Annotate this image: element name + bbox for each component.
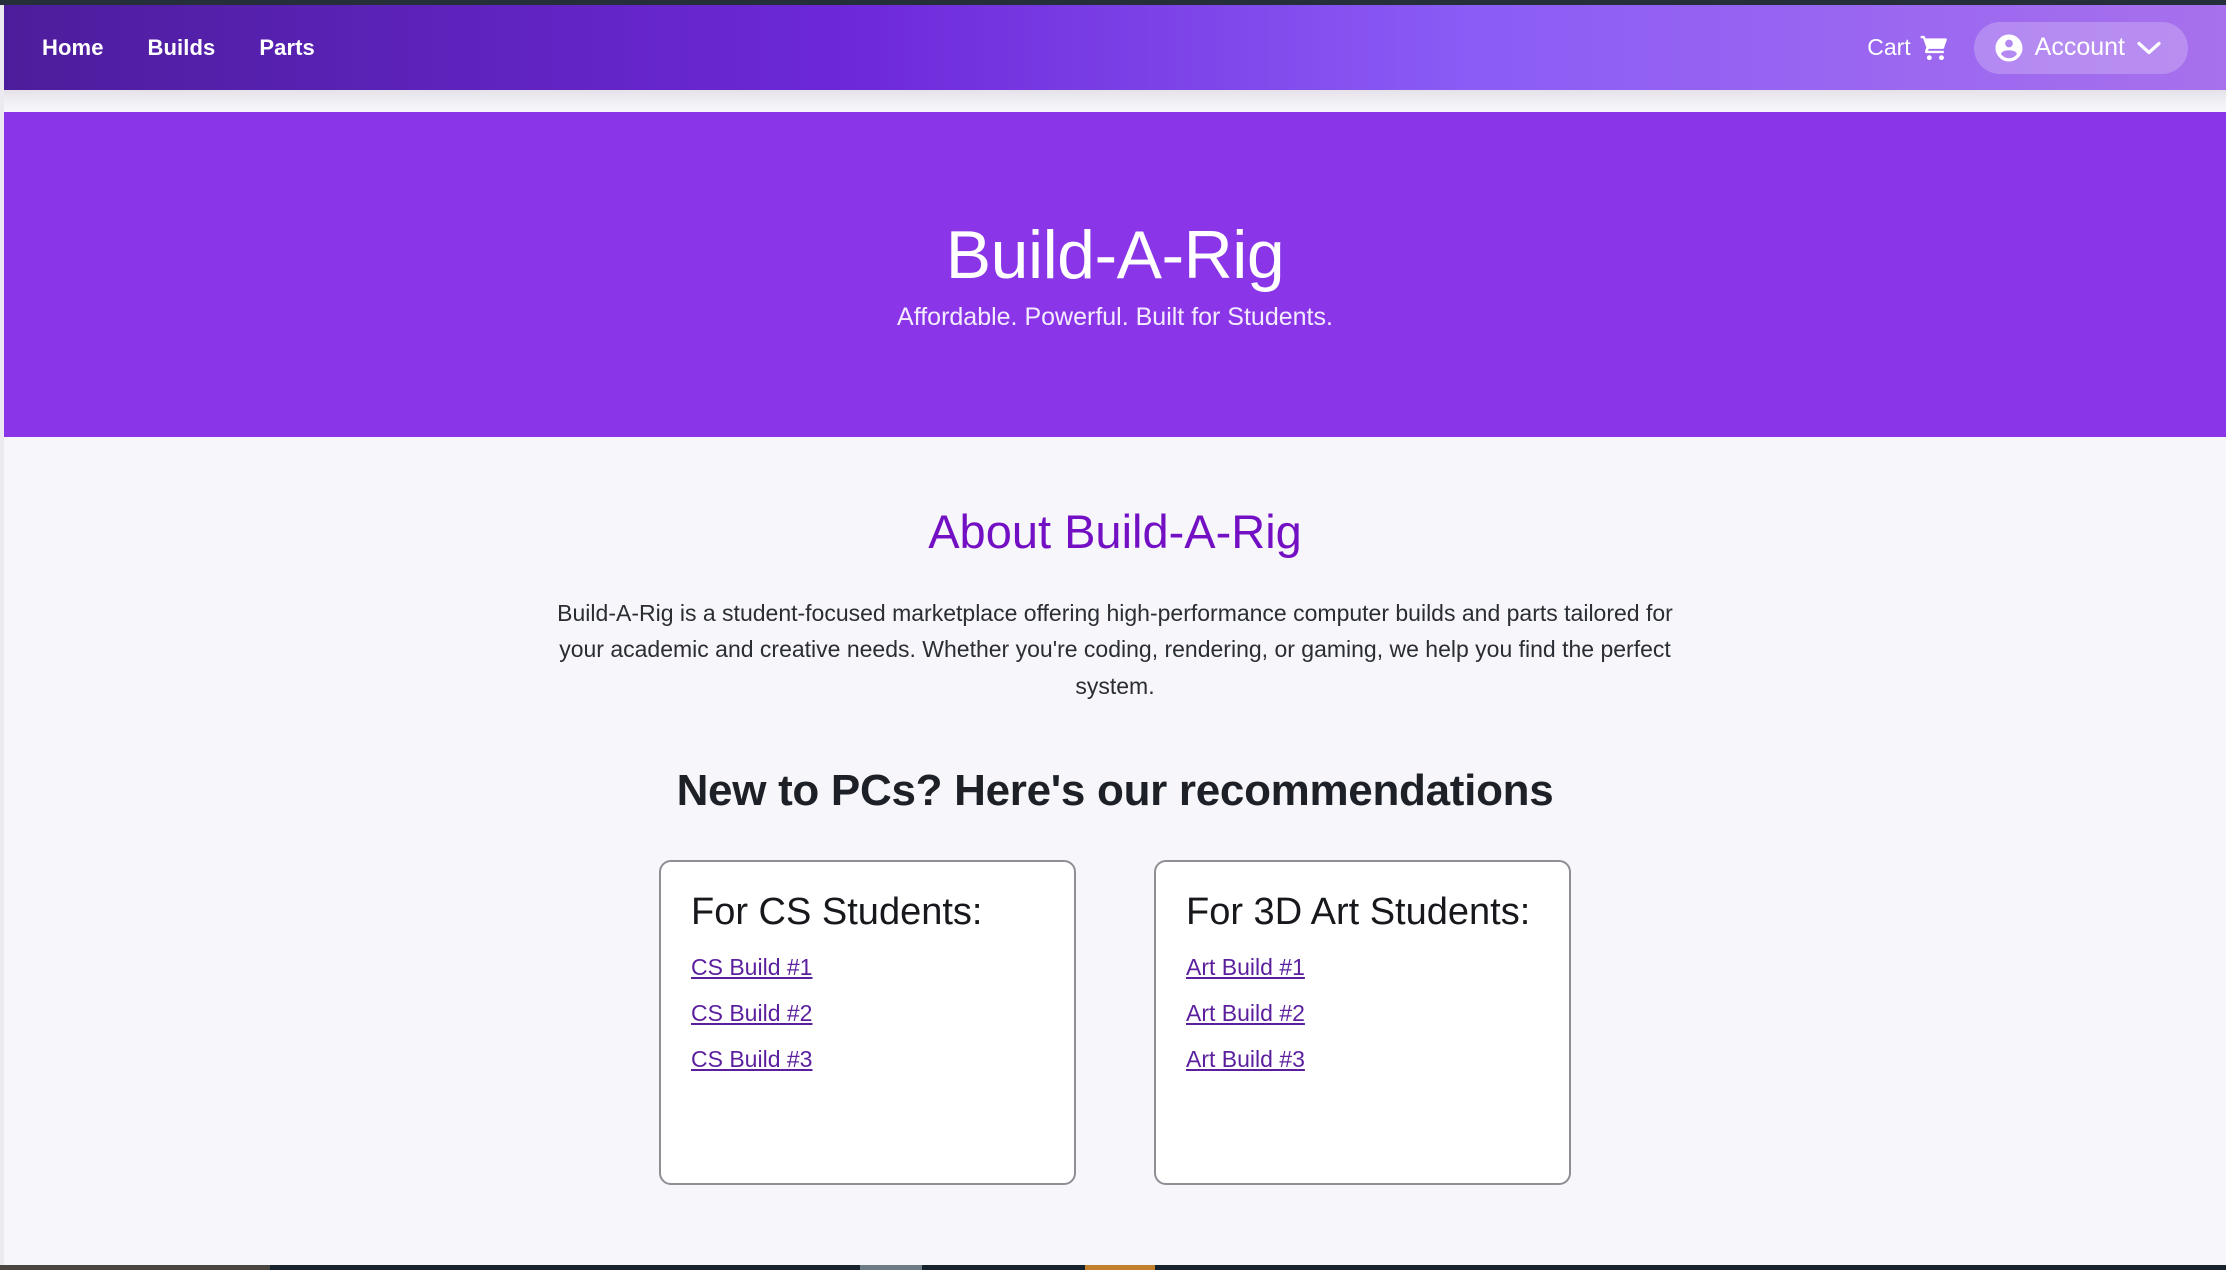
nav-link-parts[interactable]: Parts [259,35,315,61]
about-section-heading: About Build-A-Rig [4,504,2226,559]
account-label: Account [2035,33,2125,62]
build-link-cs-1[interactable]: CS Build #1 [691,954,812,981]
recommendations-heading: New to PCs? Here's our recommendations [4,766,2226,816]
cart-label: Cart [1867,34,1910,61]
navbar-shadow-strip [4,90,2226,112]
viewport-left-gutter [0,5,4,1265]
recommendation-card-title: For CS Students: [691,890,1044,935]
recommendation-cards-row: For CS Students: CS Build #1 CS Build #2… [4,860,2226,1185]
recommendation-card-title: For 3D Art Students: [1186,890,1539,935]
taskbar-segment-middle [860,1265,922,1270]
build-link-art-1[interactable]: Art Build #1 [1186,954,1305,981]
build-link-art-2[interactable]: Art Build #2 [1186,1000,1305,1027]
build-link-cs-2[interactable]: CS Build #2 [691,1000,812,1027]
browser-viewport: Home Builds Parts Cart [0,5,2226,1265]
cart-button[interactable]: Cart [1867,34,1947,61]
recommendation-card-cs: For CS Students: CS Build #1 CS Build #2… [659,860,1076,1185]
navbar-primary-links: Home Builds Parts [42,35,315,61]
os-taskbar [0,1265,2226,1270]
hero-title: Build-A-Rig [946,217,1284,293]
chevron-down-icon [2136,40,2162,56]
nav-link-home[interactable]: Home [42,35,104,61]
account-menu-button[interactable]: Account [1974,22,2188,74]
site-navbar: Home Builds Parts Cart [4,5,2226,90]
recommendation-card-art: For 3D Art Students: Art Build #1 Art Bu… [1154,860,1571,1185]
account-circle-icon [1994,33,2024,63]
nav-link-builds[interactable]: Builds [148,35,216,61]
hero-tagline: Affordable. Powerful. Built for Students… [897,303,1333,332]
build-link-cs-3[interactable]: CS Build #3 [691,1046,812,1073]
about-section-body: Build-A-Rig is a student-focused marketp… [535,595,1695,704]
hero-banner: Build-A-Rig Affordable. Powerful. Built … [4,112,2226,437]
taskbar-segment-left [0,1265,270,1270]
navbar-secondary-links: Cart Account [1867,22,2188,74]
build-link-art-3[interactable]: Art Build #3 [1186,1046,1305,1073]
taskbar-segment-highlight [1085,1265,1155,1270]
main-content: About Build-A-Rig Build-A-Rig is a stude… [4,437,2226,1265]
shopping-cart-icon [1920,35,1948,61]
